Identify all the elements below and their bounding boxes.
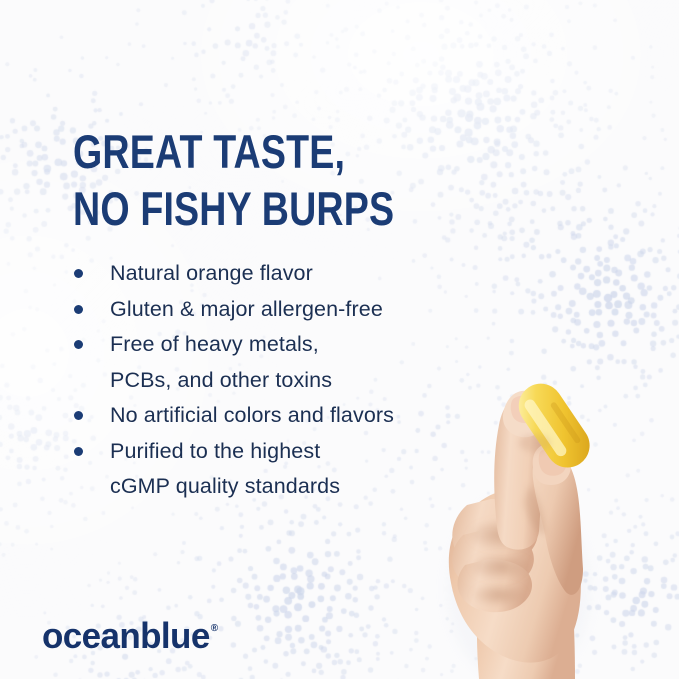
bullet-dot-icon — [74, 447, 83, 456]
knuckle-shading-2 — [469, 553, 533, 581]
bullet-dot-icon — [74, 305, 83, 314]
benefit-item-2: Gluten & major allergen-free — [69, 292, 499, 328]
benefit-text: Natural orange flavor — [110, 256, 499, 292]
product-benefits-poster: GREAT TASTE, NO FISHY BURPS Natural oran… — [0, 0, 679, 679]
headline-line-1: GREAT TASTE, — [73, 123, 409, 180]
bullet-dot-icon — [74, 269, 83, 278]
brand-logo: oceanblue® — [42, 613, 217, 657]
capsule-cast-shadow — [519, 434, 551, 452]
knuckle-shading-3 — [471, 583, 527, 607]
headline: GREAT TASTE, NO FISHY BURPS — [73, 123, 409, 237]
bullet-dot-icon — [74, 411, 83, 420]
hand-holding-capsule-image — [423, 339, 679, 679]
benefit-item-1: Natural orange flavor — [69, 256, 499, 292]
brand-logo-wordmark: oceanblue — [42, 616, 210, 657]
bullet-dot-icon — [74, 340, 83, 349]
headline-line-2: NO FISHY BURPS — [73, 180, 409, 237]
benefit-text: Gluten & major allergen-free — [110, 292, 499, 328]
registered-trademark-icon: ® — [211, 623, 218, 634]
